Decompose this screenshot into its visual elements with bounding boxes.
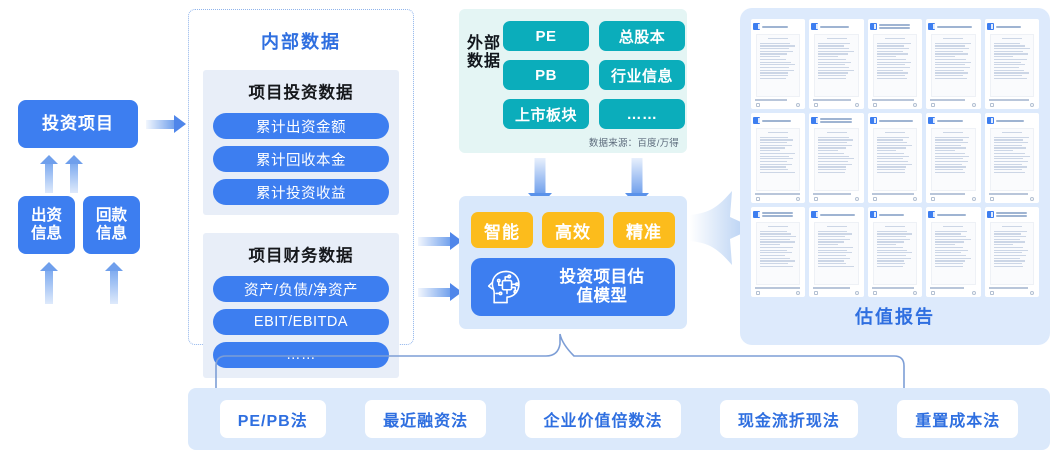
eye-icon xyxy=(1030,103,1034,107)
panel-external-data: 外部 数据 PE 总股本 PB 行业信息 上市板块 …… 数据来源：百度/万得 xyxy=(459,9,687,153)
document-icon xyxy=(987,23,994,30)
report-card-stats xyxy=(928,195,978,201)
arrow-financial-data-to-model xyxy=(418,283,462,301)
thumbs-up-icon xyxy=(756,291,760,295)
panel-valuation-model: 智能 高效 精准 xyxy=(459,196,687,329)
thumbs-up-icon xyxy=(931,197,935,201)
arrow-investment-data-to-model xyxy=(418,232,462,250)
report-card-title xyxy=(820,214,861,216)
group-title-financial: 项目财务数据 xyxy=(203,242,399,266)
report-page-preview xyxy=(814,128,858,191)
item-listed-sector[interactable]: 上市板块 xyxy=(503,99,589,129)
valuation-model-label: 投资项目估 值模型 xyxy=(535,268,675,307)
data-source-note: 数据来源：百度/万得 xyxy=(589,135,679,149)
group-project-investment-data: 项目投资数据 累计出资金额 累计回收本金 累计投资收益 xyxy=(203,70,399,215)
report-thumbnail-card[interactable] xyxy=(751,19,805,109)
eye-icon xyxy=(913,197,917,201)
brace-connector-methods xyxy=(180,330,940,392)
external-data-grid: PE 总股本 PB 行业信息 上市板块 …… xyxy=(503,21,679,129)
report-card-title xyxy=(996,212,1037,217)
report-card-header xyxy=(870,210,920,219)
document-icon xyxy=(811,23,818,30)
report-thumbnail-card[interactable] xyxy=(868,207,922,297)
method-discounted-cash-flow[interactable]: 现金流折现法 xyxy=(720,400,858,438)
thumbs-up-icon xyxy=(931,103,935,107)
report-card-header xyxy=(753,116,803,125)
arrow-up-into-repayment xyxy=(104,262,124,304)
panel-valuation-methods: PE/PB法 最近融资法 企业价值倍数法 现金流折现法 重置成本法 xyxy=(188,388,1050,450)
view-stat xyxy=(855,197,859,201)
view-stat xyxy=(972,197,976,201)
group-title-investment: 项目投资数据 xyxy=(203,79,399,103)
report-card-stats xyxy=(753,195,803,201)
eye-icon xyxy=(796,291,800,295)
document-icon xyxy=(753,23,760,30)
eye-icon xyxy=(972,197,976,201)
eye-icon xyxy=(855,103,859,107)
thumbs-up-icon xyxy=(931,291,935,295)
thumbs-up-icon xyxy=(990,103,994,107)
like-stat xyxy=(931,291,935,295)
view-stat xyxy=(913,291,917,295)
document-icon xyxy=(811,117,818,124)
thumbs-up-icon xyxy=(756,197,760,201)
view-stat xyxy=(796,103,800,107)
report-card-title xyxy=(762,26,803,28)
ai-brain-icon xyxy=(485,265,529,309)
arrow-up-repayment-to-project xyxy=(64,155,84,193)
report-card-stats xyxy=(987,101,1037,107)
arrow-project-to-internal-data xyxy=(146,115,186,133)
thumbs-up-icon xyxy=(990,197,994,201)
arrow-up-funding-to-project xyxy=(39,155,59,193)
report-page-preview xyxy=(990,128,1034,191)
view-stat xyxy=(913,103,917,107)
report-card-header xyxy=(987,210,1037,219)
internal-data-title: 内部数据 xyxy=(189,28,413,54)
report-card-title xyxy=(879,214,920,216)
item-external-more[interactable]: …… xyxy=(599,99,685,129)
diagram-canvas: 投资项目 出资 信息 回款 信息 内部数据 项目投资数据 累计出资金额 累计回收… xyxy=(0,0,1057,463)
report-card-title xyxy=(937,120,978,122)
view-stat xyxy=(972,291,976,295)
like-stat xyxy=(990,103,994,107)
document-icon xyxy=(811,211,818,218)
method-enterprise-value-multiple[interactable]: 企业价值倍数法 xyxy=(525,400,680,438)
report-page-preview xyxy=(873,128,917,191)
eye-icon xyxy=(913,103,917,107)
like-stat xyxy=(873,103,877,107)
like-stat xyxy=(756,291,760,295)
item-industry-info[interactable]: 行业信息 xyxy=(599,60,685,90)
view-stat xyxy=(855,103,859,107)
like-stat xyxy=(814,103,818,107)
report-card-title xyxy=(937,26,978,28)
like-stat xyxy=(756,197,760,201)
report-page-preview xyxy=(990,34,1034,97)
node-investment-project[interactable]: 投资项目 xyxy=(18,100,138,148)
report-thumbnail-card[interactable] xyxy=(985,207,1039,297)
report-page-preview xyxy=(756,222,800,285)
report-card-header xyxy=(870,116,920,125)
view-stat xyxy=(972,103,976,107)
node-repayment-info-line2: 信息 xyxy=(96,225,127,243)
report-card-stats xyxy=(870,101,920,107)
like-stat xyxy=(814,291,818,295)
tag-efficient: 高效 xyxy=(542,212,604,248)
like-stat xyxy=(756,103,760,107)
document-icon xyxy=(870,211,877,218)
report-card-title xyxy=(937,214,978,216)
item-cumulative-investment-return[interactable]: 累计投资收益 xyxy=(213,179,389,205)
report-thumbnail-card[interactable] xyxy=(868,19,922,109)
report-card-title xyxy=(820,26,861,28)
report-card-title xyxy=(762,120,803,122)
view-stat xyxy=(913,197,917,201)
report-thumbnail-card[interactable] xyxy=(985,113,1039,203)
external-label-line1: 外部 xyxy=(467,35,501,53)
thumbs-up-icon xyxy=(873,197,877,201)
report-page-preview xyxy=(814,34,858,97)
thumbs-up-icon xyxy=(814,103,818,107)
external-label-line2: 数据 xyxy=(467,53,501,71)
report-card-stats xyxy=(811,289,861,295)
report-page-preview xyxy=(931,128,975,191)
report-card-stats xyxy=(987,195,1037,201)
report-page-preview xyxy=(756,128,800,191)
report-card-header xyxy=(987,22,1037,31)
report-page-preview xyxy=(814,222,858,285)
report-thumbnail-card[interactable] xyxy=(926,113,980,203)
thumbs-up-icon xyxy=(814,197,818,201)
like-stat xyxy=(931,103,935,107)
node-funding-info[interactable]: 出资 信息 xyxy=(18,196,75,254)
report-thumbnail-card[interactable] xyxy=(751,207,805,297)
report-thumbnail-card[interactable] xyxy=(926,207,980,297)
document-icon xyxy=(928,211,935,218)
eye-icon xyxy=(1030,197,1034,201)
report-card-title xyxy=(879,24,920,29)
panel-internal-data: 内部数据 项目投资数据 累计出资金额 累计回收本金 累计投资收益 项目财务数据 … xyxy=(188,9,414,345)
view-stat xyxy=(796,197,800,201)
document-icon xyxy=(753,117,760,124)
like-stat xyxy=(873,197,877,201)
report-thumbnail-card[interactable] xyxy=(926,19,980,109)
report-thumbnail-card[interactable] xyxy=(985,19,1039,109)
document-icon xyxy=(753,211,760,218)
report-card-stats xyxy=(811,195,861,201)
item-cumulative-principal-recovered[interactable]: 累计回收本金 xyxy=(213,146,389,172)
method-pe-pb[interactable]: PE/PB法 xyxy=(220,400,326,438)
model-label-line2: 值模型 xyxy=(535,287,669,306)
report-card-header xyxy=(928,116,978,125)
like-stat xyxy=(990,197,994,201)
model-label-line1: 投资项目估 xyxy=(535,268,669,287)
like-stat xyxy=(873,291,877,295)
item-total-shares[interactable]: 总股本 xyxy=(599,21,685,51)
report-card-header xyxy=(811,210,861,219)
item-pe[interactable]: PE xyxy=(503,21,589,51)
item-assets-liabilities-networth[interactable]: 资产/负债/净资产 xyxy=(213,276,389,302)
view-stat xyxy=(1030,197,1034,201)
method-replacement-cost[interactable]: 重置成本法 xyxy=(897,400,1018,438)
report-card-stats xyxy=(753,289,803,295)
thumbs-up-icon xyxy=(873,103,877,107)
report-thumbnail-card[interactable] xyxy=(809,113,863,203)
report-card-header xyxy=(811,22,861,31)
node-funding-info-line2: 信息 xyxy=(31,225,62,243)
report-thumbnail-card[interactable] xyxy=(868,113,922,203)
report-card-title xyxy=(762,212,803,217)
thumbs-up-icon xyxy=(990,291,994,295)
eye-icon xyxy=(913,291,917,295)
report-card-title xyxy=(879,120,920,122)
view-stat xyxy=(796,291,800,295)
report-page-preview xyxy=(756,34,800,97)
report-card-stats xyxy=(870,195,920,201)
report-card-header xyxy=(987,116,1037,125)
method-recent-financing[interactable]: 最近融资法 xyxy=(365,400,486,438)
eye-icon xyxy=(1030,291,1034,295)
report-page-preview xyxy=(931,34,975,97)
thumbs-up-icon xyxy=(756,103,760,107)
report-card-stats xyxy=(870,289,920,295)
report-thumbnail-grid xyxy=(751,19,1039,297)
report-card-header xyxy=(753,22,803,31)
model-attribute-tags: 智能 高效 精准 xyxy=(471,212,675,248)
eye-icon xyxy=(796,197,800,201)
external-data-label: 外部 数据 xyxy=(467,35,501,71)
report-page-preview xyxy=(873,34,917,97)
node-funding-info-line1: 出资 xyxy=(31,207,62,225)
arrow-up-into-funding xyxy=(39,262,59,304)
report-card-header xyxy=(811,116,861,125)
view-stat xyxy=(1030,291,1034,295)
node-repayment-info[interactable]: 回款 信息 xyxy=(83,196,140,254)
report-page-preview xyxy=(873,222,917,285)
thumbs-up-icon xyxy=(814,291,818,295)
item-pb[interactable]: PB xyxy=(503,60,589,90)
report-card-header xyxy=(870,22,920,31)
document-icon xyxy=(987,211,994,218)
report-card-header xyxy=(753,210,803,219)
document-icon xyxy=(928,23,935,30)
eye-icon xyxy=(972,291,976,295)
node-valuation-model[interactable]: 投资项目估 值模型 xyxy=(471,258,675,316)
document-icon xyxy=(870,117,877,124)
like-stat xyxy=(931,197,935,201)
report-card-header xyxy=(928,210,978,219)
eye-icon xyxy=(855,197,859,201)
report-card-stats xyxy=(753,101,803,107)
report-thumbnail-card[interactable] xyxy=(751,113,805,203)
tag-intelligent: 智能 xyxy=(471,212,533,248)
report-card-stats xyxy=(928,101,978,107)
report-card-stats xyxy=(987,289,1037,295)
report-thumbnail-card[interactable] xyxy=(809,19,863,109)
eye-icon xyxy=(796,103,800,107)
report-thumbnail-card[interactable] xyxy=(809,207,863,297)
item-cumulative-contribution[interactable]: 累计出资金额 xyxy=(213,113,389,139)
report-card-stats xyxy=(928,289,978,295)
report-panel-caption: 估值报告 xyxy=(740,303,1050,329)
view-stat xyxy=(855,291,859,295)
document-icon xyxy=(928,117,935,124)
report-card-title xyxy=(820,118,861,123)
eye-icon xyxy=(855,291,859,295)
report-page-preview xyxy=(931,222,975,285)
document-icon xyxy=(987,117,994,124)
report-card-title xyxy=(996,26,1037,28)
report-card-stats xyxy=(811,101,861,107)
panel-valuation-reports: 估值报告 xyxy=(740,8,1050,345)
report-card-title xyxy=(996,120,1037,122)
thumbs-up-icon xyxy=(873,291,877,295)
eye-icon xyxy=(972,103,976,107)
report-page-preview xyxy=(990,222,1034,285)
node-repayment-info-line1: 回款 xyxy=(96,207,127,225)
like-stat xyxy=(990,291,994,295)
document-icon xyxy=(870,23,877,30)
like-stat xyxy=(814,197,818,201)
report-card-header xyxy=(928,22,978,31)
tag-accurate: 精准 xyxy=(613,212,675,248)
view-stat xyxy=(1030,103,1034,107)
